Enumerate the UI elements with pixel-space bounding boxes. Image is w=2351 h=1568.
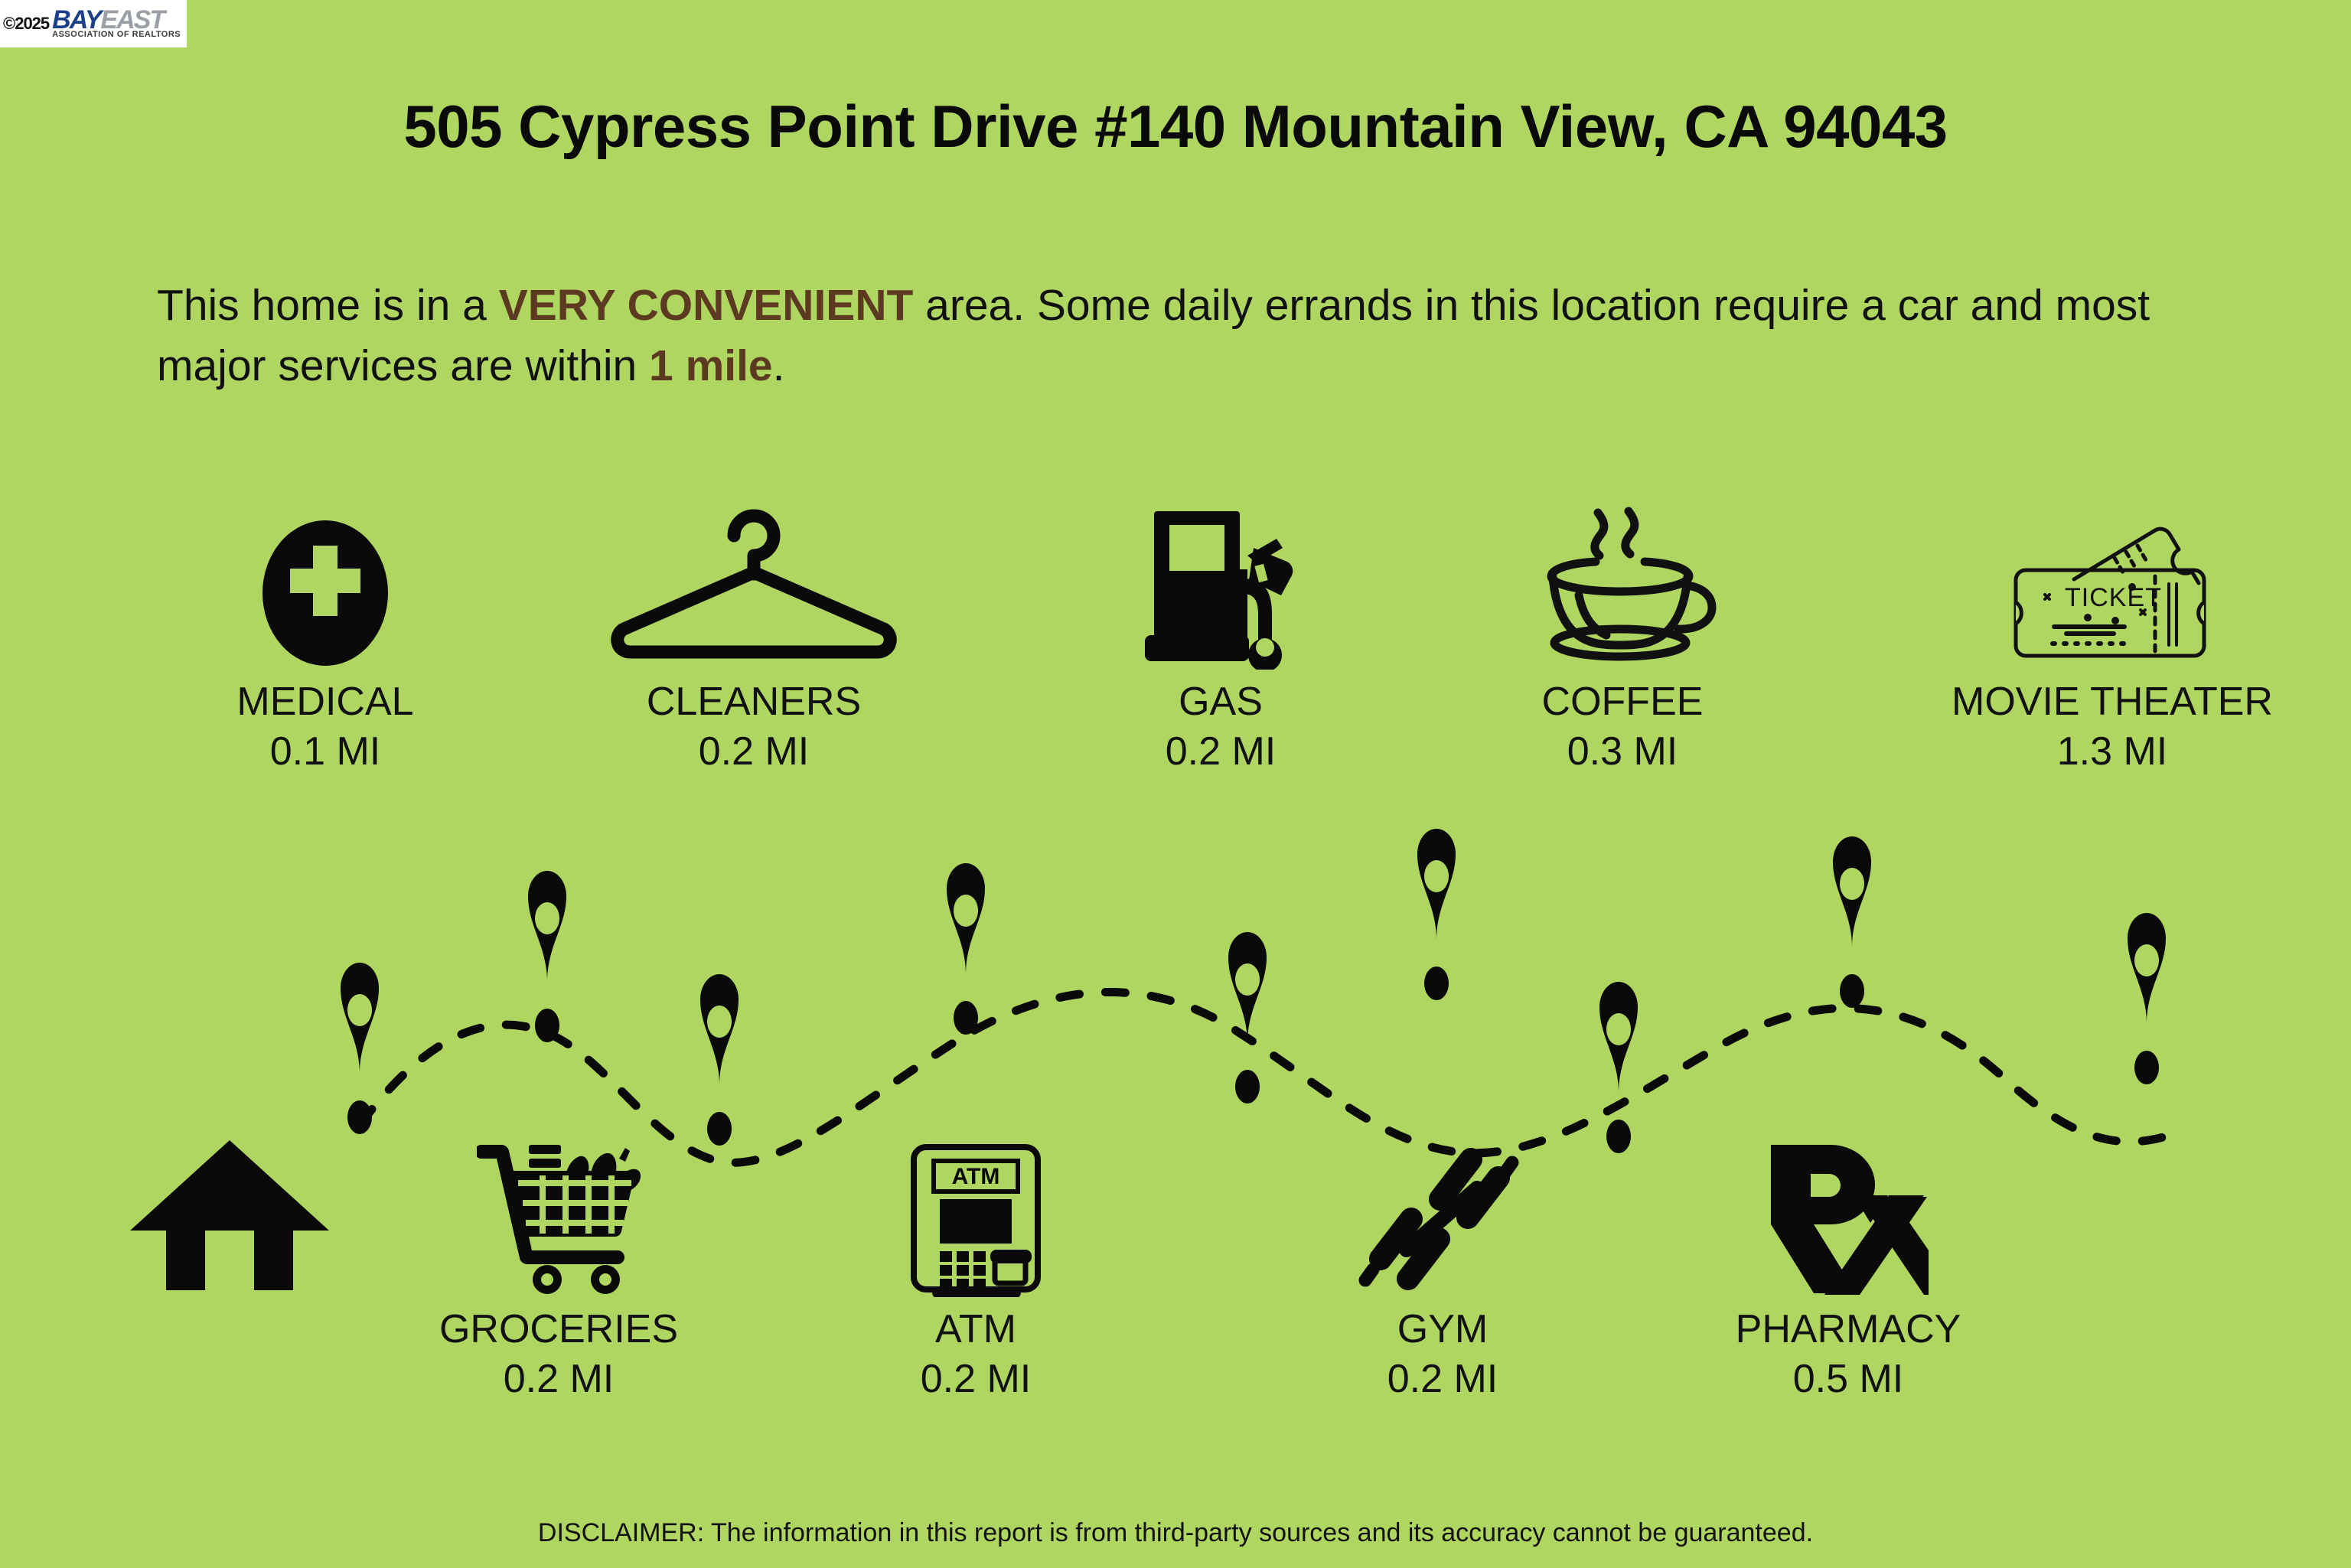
poi-distance: 0.3 MI [1567, 730, 1678, 774]
poi-distance: 0.2 MI [699, 730, 810, 774]
poi-label: MOVIE THEATER [1952, 680, 2273, 724]
poi-row-top: MEDICAL 0.1 MI CLEANERS 0.2 MI [0, 505, 2351, 872]
poi-distance: 0.2 MI [1166, 730, 1277, 774]
poi-label: PHARMACY [1736, 1308, 1961, 1351]
intro-text-part3: . [773, 341, 785, 390]
prescription-rx-icon [1768, 1133, 1929, 1297]
clothes-hanger-icon [601, 505, 907, 670]
intro-accent-convenience: VERY CONVENIENT [499, 281, 914, 330]
map-pin [947, 863, 985, 1035]
brand-east-text: EAST [100, 8, 164, 32]
shopping-cart-icon [477, 1133, 641, 1297]
poi-medical[interactable]: MEDICAL 0.1 MI [157, 505, 494, 774]
disclaimer-text: DISCLAIMER: The information in this repo… [0, 1518, 2351, 1548]
poi-gas[interactable]: GAS 0.2 MI [1052, 505, 1389, 774]
poi-distance: 1.3 MI [2057, 730, 2168, 774]
atm-icon-text: ATM [952, 1164, 1000, 1189]
poi-pharmacy[interactable]: PHARMACY 0.5 MI [1680, 1133, 2017, 1401]
poi-distance: 0.1 MI [270, 730, 381, 774]
poi-groceries[interactable]: GROCERIES 0.2 MI [390, 1133, 727, 1401]
ticket-icon-text: TICKET [2065, 583, 2162, 612]
map-pin [528, 871, 566, 1042]
poi-cleaners[interactable]: CLEANERS 0.2 MI [585, 505, 922, 774]
map-pin [1228, 932, 1267, 1103]
poi-label: MEDICAL [236, 680, 413, 724]
poi-distance: 0.2 MI [1387, 1358, 1498, 1401]
coffee-cup-icon [1527, 505, 1718, 670]
intro-text-part1: This home is in a [157, 281, 499, 330]
poi-label: ATM [935, 1308, 1016, 1351]
brand-bay-text: BAY [52, 8, 100, 32]
intro-paragraph: This home is in a VERY CONVENIENT area. … [157, 275, 2223, 396]
movie-ticket-icon: TICKET [1997, 505, 2227, 670]
poi-label: GYM [1397, 1308, 1488, 1351]
map-pin [1599, 982, 1638, 1153]
poi-coffee[interactable]: COFFEE 0.3 MI [1454, 505, 1791, 774]
association-tagline: ASSOCIATION OF REALTORS [52, 30, 181, 39]
poi-distance: 0.2 MI [504, 1358, 615, 1401]
dumbbell-icon [1355, 1133, 1531, 1297]
map-pin-group [341, 829, 2166, 1153]
poi-gym[interactable]: GYM 0.2 MI [1274, 1133, 1611, 1401]
gas-pump-icon [1140, 505, 1301, 670]
poi-movie-theater[interactable]: TICKET MOVIE THEATER 1.3 MI [1944, 505, 2281, 774]
page-title: 505 Cypress Point Drive #140 Mountain Vi… [0, 92, 2351, 161]
poi-home[interactable] [61, 1133, 398, 1297]
bay-east-watermark: ©2025 BAY EAST ASSOCIATION OF REALTORS [0, 0, 187, 47]
poi-label: GAS [1179, 680, 1263, 724]
map-pin [2128, 913, 2166, 1084]
atm-machine-icon: ATM [911, 1133, 1041, 1297]
intro-accent-distance: 1 mile [649, 341, 773, 390]
map-pin [341, 963, 379, 1134]
map-pin [700, 974, 739, 1146]
poi-label: CLEANERS [647, 680, 861, 724]
copyright-text: ©2025 [3, 14, 49, 34]
poi-label: COFFEE [1542, 680, 1704, 724]
poi-label: GROCERIES [439, 1308, 678, 1351]
house-icon [126, 1133, 333, 1297]
medical-cross-circle-icon [256, 505, 394, 670]
poi-distance: 0.2 MI [921, 1358, 1032, 1401]
poi-distance: 0.5 MI [1793, 1358, 1904, 1401]
poi-atm[interactable]: ATM ATM 0.2 MI [807, 1133, 1144, 1401]
poi-row-bottom: GROCERIES 0.2 MI ATM ATM 0.2 MI [0, 1133, 2351, 1515]
